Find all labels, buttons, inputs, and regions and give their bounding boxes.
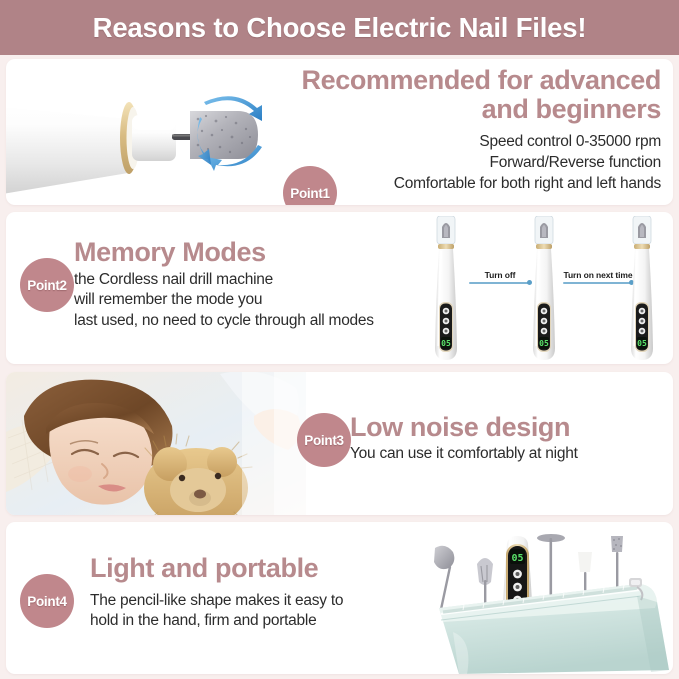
panel-1-headline-line-2: and beginners [231, 95, 661, 124]
nail-drill-device-2: 05 [527, 216, 561, 362]
svg-text:05: 05 [637, 339, 647, 348]
panel-1-headline: Recommended for advanced and beginners [231, 66, 661, 123]
point-badge-label-2: Point2 [27, 278, 66, 293]
panel-2-body-block: the Cordless nail drill machine will rem… [74, 270, 374, 332]
svg-text:05: 05 [441, 339, 451, 348]
arrow-turn-on-next-time-line [563, 282, 633, 284]
panel-1-headline-line-1: Recommended for advanced [231, 66, 661, 95]
panel-3-text-block: Low noise design You can use it comforta… [350, 413, 578, 464]
panel-2-text-block: Memory Modes the Cordless nail drill mac… [74, 238, 374, 332]
point-badge-label-3: Point3 [304, 433, 343, 448]
point-badge-label-1: Point1 [290, 186, 329, 201]
page-header-band: Reasons to Choose Electric Nail Files! [0, 0, 679, 55]
panel-4-text-block: Light and portable The pencil-like shape… [90, 554, 343, 632]
nail-drill-device-1: 05 [429, 216, 463, 362]
point-badge-label-4: Point4 [27, 594, 66, 609]
arrow-turn-off-line [469, 282, 531, 284]
panel-4-body-line-2: hold in the hand, firm and portable [90, 611, 343, 632]
arrow-turn-off: Turn off [469, 270, 531, 284]
feature-panel-point3: Point3 Low noise design You can use it c… [6, 372, 673, 515]
svg-text:05: 05 [539, 339, 549, 348]
feature-panel-point4: Point4 Light and portable The pencil-lik… [6, 522, 673, 674]
arrow-turn-on-next-time: Turn on next time [563, 270, 633, 284]
panel-4-headline: Light and portable [90, 554, 343, 583]
arrow-turn-off-label: Turn off [469, 270, 531, 280]
feature-panel-point1: Point1 Recommended for advanced and begi… [6, 59, 673, 205]
panel-1-body-line-1: Speed control 0-35000 rpm [231, 132, 661, 153]
nail-drill-device-3: 05 [625, 216, 659, 362]
point-badge-4: Point4 [20, 574, 74, 628]
point-badge-2: Point2 [20, 258, 74, 312]
feature-panel-point2: Point2 Memory Modes the Cordless nail dr… [6, 212, 673, 364]
pouch-with-bits-image: 05 [423, 522, 673, 674]
svg-text:05: 05 [511, 553, 523, 564]
panel-3-body-line-1: You can use it comfortably at night [350, 444, 578, 465]
panel-3-body-block: You can use it comfortably at night [350, 444, 578, 465]
page-title: Reasons to Choose Electric Nail Files! [93, 12, 587, 44]
memory-mode-sequence-image: 05 Turn off [411, 212, 673, 364]
infographic-page: Reasons to Choose Electric Nail Files! [0, 0, 679, 679]
bit-disc [537, 534, 565, 596]
point-badge-3: Point3 [297, 413, 351, 467]
panel-2-body-line-3: last used, no need to cycle through all … [74, 311, 374, 332]
panel-4-body-line-1: The pencil-like shape makes it easy to [90, 591, 343, 612]
panel-2-headline: Memory Modes [74, 238, 374, 267]
panel-2-body-line-2: will remember the mode you [74, 290, 374, 311]
arrow-turn-on-next-time-label: Turn on next time [563, 270, 633, 280]
panel-2-body-line-1: the Cordless nail drill machine [74, 270, 374, 291]
panel-3-headline: Low noise design [350, 413, 578, 442]
panel-4-body-block: The pencil-like shape makes it easy to h… [90, 591, 343, 633]
sleeping-child-photo [6, 372, 306, 515]
bit-sanding-barrel [434, 546, 454, 610]
